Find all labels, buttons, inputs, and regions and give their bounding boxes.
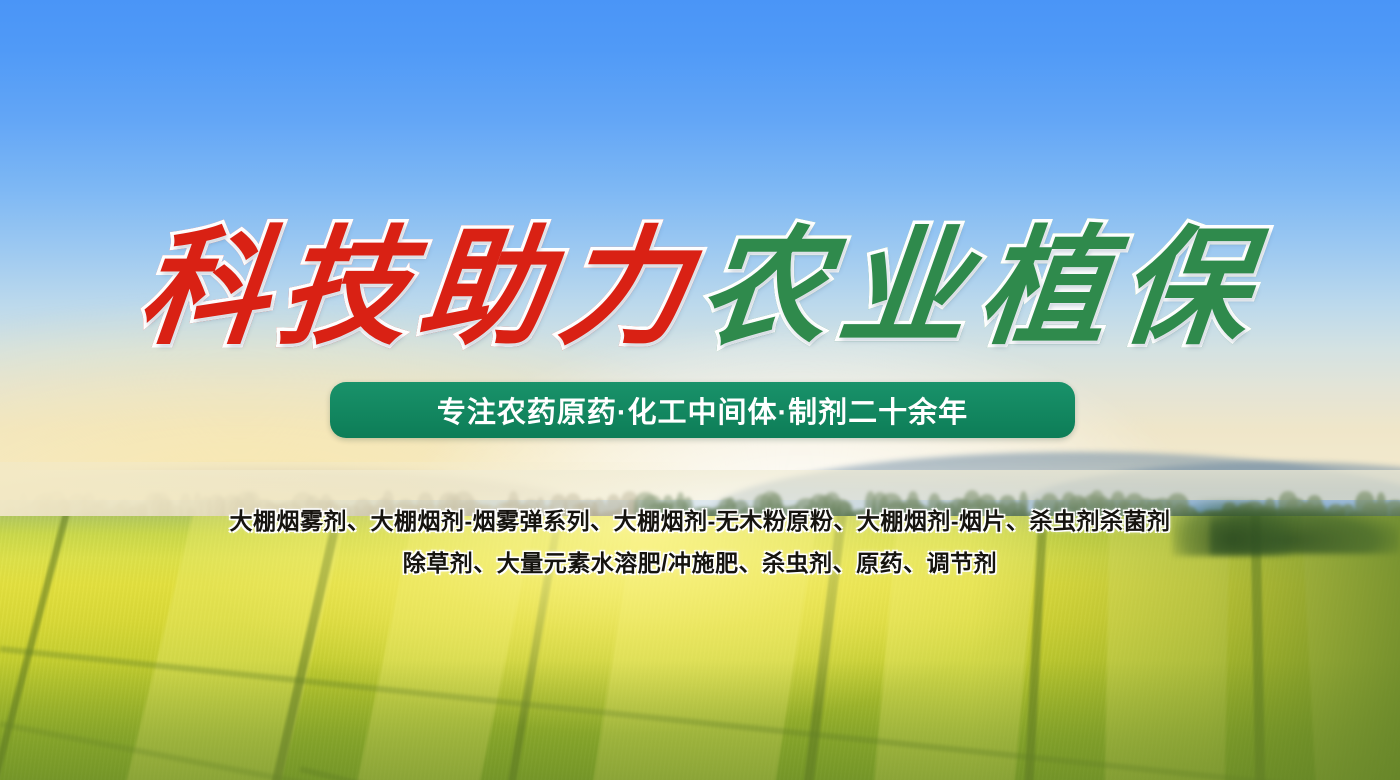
- subtitle-pill: 专注农药原药·化工中间体·制剂二十余年: [330, 382, 1075, 438]
- headline-segment-red: 科技助力: [132, 214, 708, 364]
- subtitle-text: 专注农药原药·化工中间体·制剂二十余年: [437, 389, 968, 431]
- product-line-2: 除草剂、大量元素水溶肥/冲施肥、杀虫剂、原药、调节剂: [0, 542, 1400, 584]
- headline-segment-green: 农业植保: [692, 214, 1268, 364]
- banner-content: 科技助力农业植保 专注农药原药·化工中间体·制剂二十余年 大棚烟雾剂、大棚烟剂-…: [0, 0, 1400, 780]
- promo-banner: 科技助力农业植保 专注农药原药·化工中间体·制剂二十余年 大棚烟雾剂、大棚烟剂-…: [0, 0, 1400, 780]
- headline: 科技助力农业植保: [0, 214, 1400, 364]
- product-line-1: 大棚烟雾剂、大棚烟剂-烟雾弹系列、大棚烟剂-无木粉原粉、大棚烟剂-烟片、杀虫剂杀…: [0, 500, 1400, 542]
- product-list: 大棚烟雾剂、大棚烟剂-烟雾弹系列、大棚烟剂-无木粉原粉、大棚烟剂-烟片、杀虫剂杀…: [0, 500, 1400, 584]
